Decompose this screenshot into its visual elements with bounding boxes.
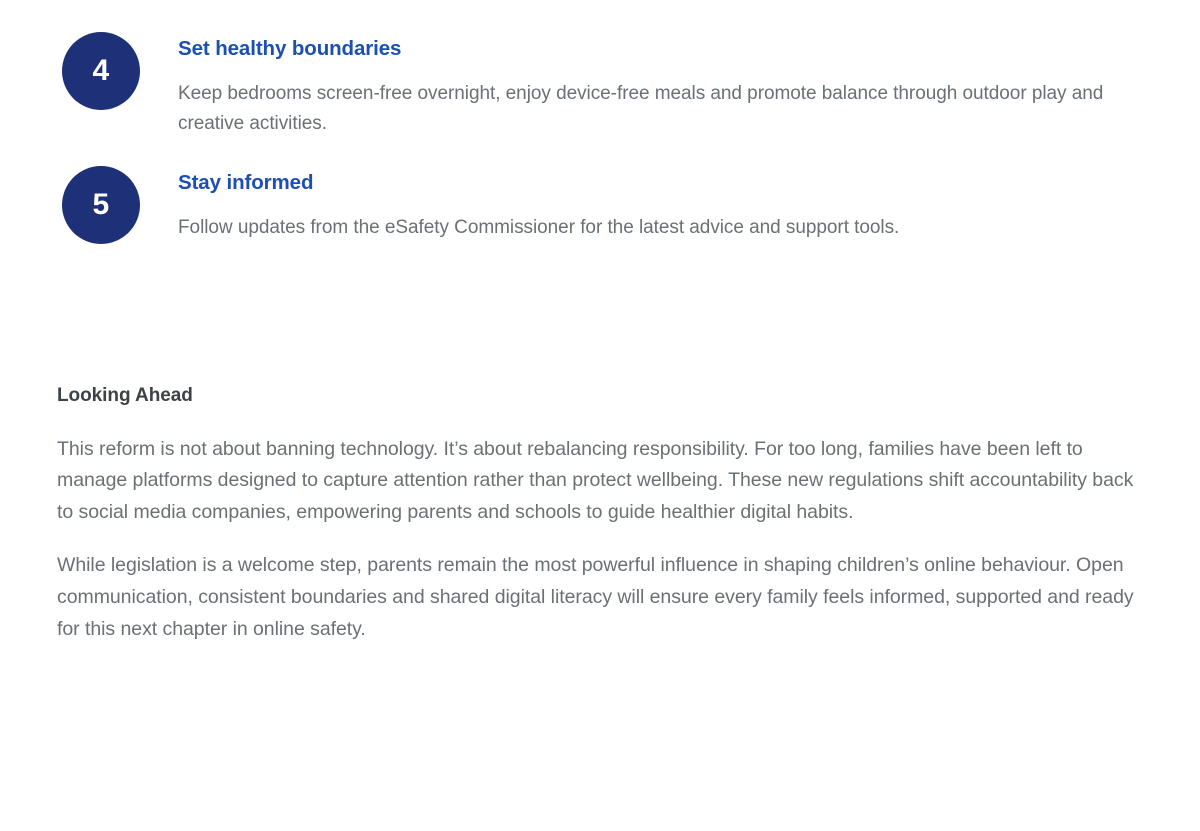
step-title: Stay informed [178, 170, 1140, 197]
list-item: 5 Stay informed Follow updates from the … [0, 166, 1200, 244]
section-heading: Looking Ahead [57, 384, 1153, 409]
looking-ahead-section: Looking Ahead This reform is not about b… [57, 384, 1153, 645]
step-content: Stay informed Follow updates from the eS… [140, 166, 1200, 243]
step-description: Keep bedrooms screen-free overnight, enj… [178, 79, 1108, 141]
article-page: 4 Set healthy boundaries Keep bedrooms s… [0, 0, 1200, 831]
step-description: Follow updates from the eSafety Commissi… [178, 213, 1108, 244]
step-title: Set healthy boundaries [178, 36, 1140, 63]
step-number-badge: 4 [62, 32, 140, 110]
section-paragraph: While legislation is a welcome step, par… [57, 550, 1153, 645]
section-paragraph: This reform is not about banning technol… [57, 434, 1153, 529]
numbered-steps-list: 4 Set healthy boundaries Keep bedrooms s… [0, 0, 1200, 244]
step-number-badge: 5 [62, 166, 140, 244]
step-content: Set healthy boundaries Keep bedrooms scr… [140, 32, 1200, 140]
list-item: 4 Set healthy boundaries Keep bedrooms s… [0, 32, 1200, 140]
